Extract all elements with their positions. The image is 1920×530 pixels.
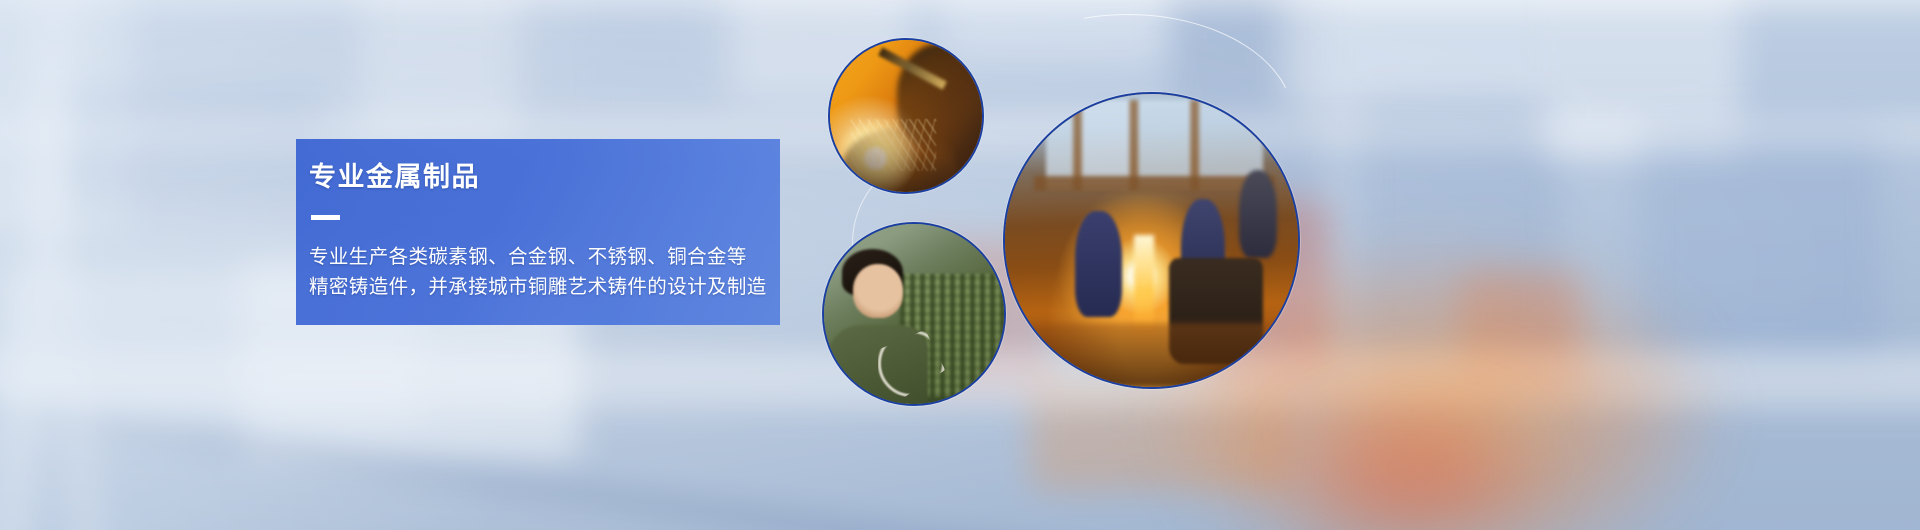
worker-silhouette	[1075, 211, 1122, 316]
hero-description: 专业生产各类碳素钢、合金钢、不锈钢、铜合金等 精密铸造件，并承接城市铜雕艺术铸件…	[309, 242, 780, 302]
hero-text-panel: 专业金属制品 专业生产各类碳素钢、合金钢、不锈钢、铜合金等 精密铸造件，并承接城…	[296, 139, 780, 325]
workshop-window	[1046, 100, 1263, 188]
worker-silhouette	[1239, 170, 1277, 258]
technician-image	[824, 224, 1004, 404]
foundry-pour-photo	[1003, 92, 1300, 389]
hero-description-line: 专业生产各类碳素钢、合金钢、不锈钢、铜合金等	[309, 242, 780, 272]
technician-face	[853, 264, 903, 318]
hero-banner: 专业金属制品 专业生产各类碳素钢、合金钢、不锈钢、铜合金等 精密铸造件，并承接城…	[0, 0, 1920, 530]
hero-description-line: 精密铸造件，并承接城市铜雕艺术铸件的设计及制造	[309, 272, 780, 302]
foundry-pour-image	[1005, 94, 1298, 387]
molten-metal-stream	[1134, 235, 1155, 335]
title-divider	[311, 215, 340, 220]
welding-foreground-shadow	[842, 128, 954, 194]
welding-image	[830, 40, 982, 192]
page-title: 专业金属制品	[309, 163, 780, 193]
workshop-floor	[1005, 323, 1298, 387]
technician-photo	[822, 222, 1006, 406]
hero-text-inner: 专业金属制品 专业生产各类碳素钢、合金钢、不锈钢、铜合金等 精密铸造件，并承接城…	[296, 139, 780, 302]
welding-photo	[828, 38, 984, 194]
workshop-beam	[1034, 176, 1274, 191]
